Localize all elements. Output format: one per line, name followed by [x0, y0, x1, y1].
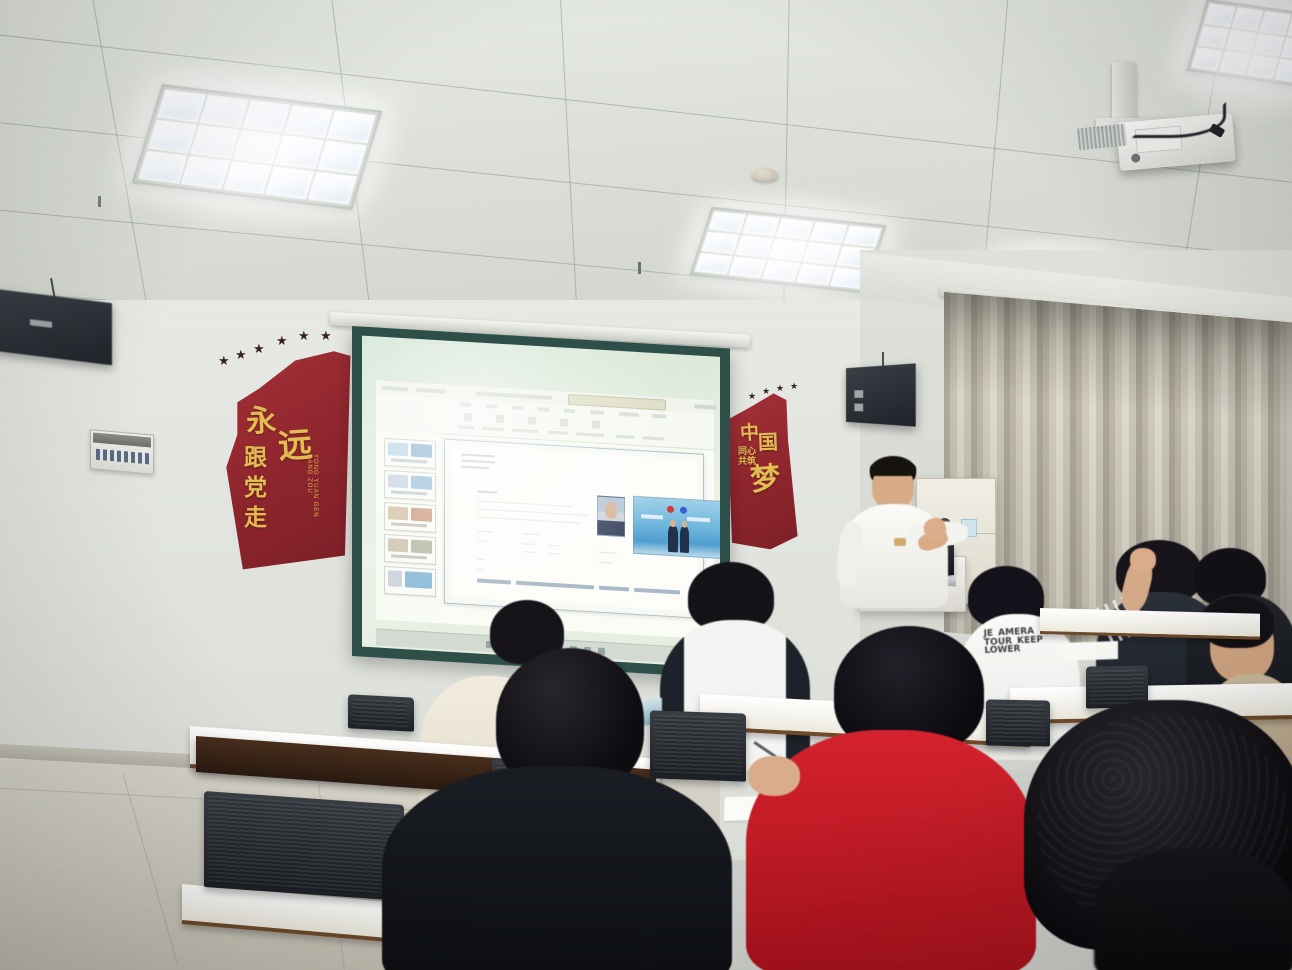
classroom-chair[interactable]	[204, 791, 404, 901]
banner-char-4: 党	[244, 468, 267, 502]
banner-char-2: 国	[758, 426, 779, 456]
classroom-photo: ★ ★ ★ ★ ★ ★ 永 远 跟 党 走 YONG YUAN GEN DANG…	[0, 0, 1292, 970]
student-dark-foreground	[1094, 848, 1292, 970]
banner-char-3: 跟	[244, 438, 267, 472]
banner-char-1: 永	[245, 395, 277, 441]
projector	[1060, 60, 1270, 180]
ceiling-hook	[98, 196, 101, 207]
wall-speaker-right	[846, 363, 916, 426]
right-red-wall-banner: ★ ★ ★ ★ 中 国 梦 同心共筑	[724, 378, 804, 556]
presenter-logo	[894, 538, 906, 546]
student-red-jacket	[742, 668, 1042, 970]
smoke-detector-icon	[752, 168, 778, 181]
banner-subtitle: 同心共筑	[738, 448, 756, 468]
student-black-sweater	[388, 648, 728, 970]
student-hand	[748, 756, 800, 796]
paper-sheet	[1062, 641, 1118, 661]
speaker-cable	[882, 352, 884, 366]
ceiling-light-panel-center	[689, 207, 886, 293]
banner-char-5: 走	[244, 498, 267, 532]
student-torso	[1094, 848, 1292, 970]
projector-lens	[1131, 153, 1141, 163]
student-torso	[382, 766, 732, 970]
banner-pinyin: YONG YUAN GEN DANG ZOU	[306, 454, 318, 530]
student-hand	[1130, 548, 1156, 572]
left-red-wall-banner: ★ ★ ★ ★ ★ ★ 永 远 跟 党 走 YONG YUAN GEN DANG…	[218, 326, 356, 574]
banner-stars: ★ ★ ★ ★	[724, 378, 804, 402]
ceiling-hook	[638, 262, 641, 274]
presenter-hair-front	[870, 460, 916, 476]
electrical-breaker-panel	[90, 429, 154, 475]
